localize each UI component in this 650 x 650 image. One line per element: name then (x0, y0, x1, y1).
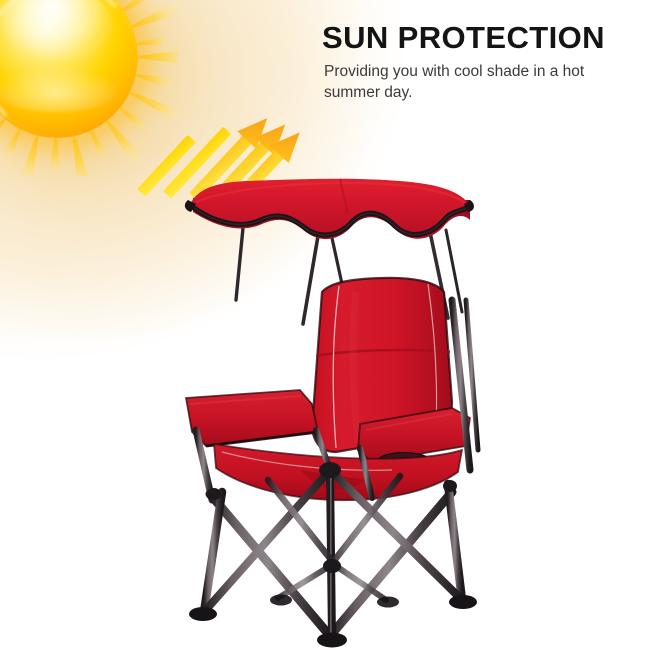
chair-left-armrest (186, 390, 318, 446)
product-banner: SUN PROTECTION Providing you with cool s… (0, 0, 650, 650)
product-image-chair (0, 0, 650, 650)
chair-canopy (185, 179, 474, 239)
